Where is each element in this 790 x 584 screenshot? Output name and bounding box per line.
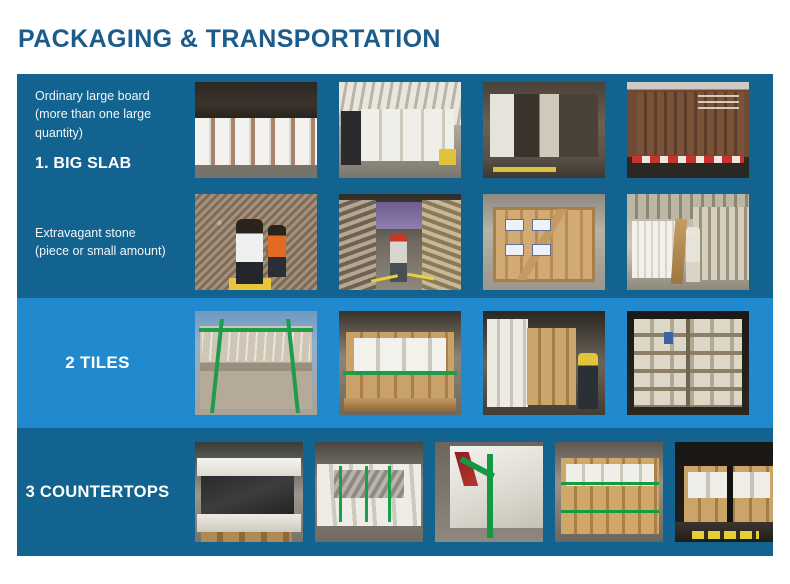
label-column-countertops: 3 COUNTERTOPS [17, 428, 178, 556]
section-countertops: 3 COUNTERTOPS [17, 428, 773, 556]
label-column-extravagant: Extravagant stone (piece or small amount… [17, 186, 178, 298]
label-column-tiles: 2 TILES [17, 298, 178, 428]
photo-container-loaded-countertop-crates[interactable] [675, 442, 773, 542]
photo-strap-closeup-green-red[interactable] [435, 442, 543, 542]
photo-white-slab-bundles-warehouse[interactable] [195, 82, 317, 178]
photo-container-interior-loading[interactable] [483, 82, 605, 178]
photo-grey-countertops-strapped[interactable] [315, 442, 423, 542]
photo-countertop-crates-pallets[interactable] [555, 442, 663, 542]
photo-tile-bundle-green-straps[interactable] [195, 311, 317, 415]
section-big-slab-row-ordinary: Ordinary large board (more than one larg… [17, 74, 773, 186]
photo-slab-aisle-worker[interactable] [339, 194, 461, 290]
photo-workers-inspecting-granite-slabs[interactable] [195, 194, 317, 290]
section-big-slab: Ordinary large board (more than one larg… [17, 74, 773, 298]
photo-slabs-loading-warehouse[interactable] [339, 82, 461, 178]
caption-extravagant-stone: Extravagant stone (piece or small amount… [35, 224, 168, 260]
photo-worker-securing-container[interactable] [627, 194, 749, 290]
photo-strip-tiles [178, 298, 773, 428]
photo-tile-crates-on-pallet[interactable] [339, 311, 461, 415]
photo-container-packed-tiles[interactable] [627, 311, 749, 415]
caption-ordinary-large-board: Ordinary large board (more than one larg… [35, 87, 168, 141]
photo-strip-big-slab-ordinary [178, 74, 773, 186]
packaging-panel: Ordinary large board (more than one larg… [17, 74, 773, 556]
heading-countertops: 3 COUNTERTOPS [26, 483, 170, 502]
photo-black-countertop-slab-wrapped[interactable] [195, 442, 303, 542]
photo-strip-big-slab-extravagant [178, 186, 773, 298]
heading-tiles: 2 TILES [65, 353, 129, 373]
label-column-ordinary: Ordinary large board (more than one larg… [17, 74, 178, 186]
heading-big-slab: 1. BIG SLAB [35, 155, 168, 173]
page-title: PACKAGING & TRANSPORTATION [18, 25, 441, 54]
section-big-slab-row-extravagant: Extravagant stone (piece or small amount… [17, 186, 773, 298]
photo-wooden-crates-labeled[interactable] [483, 194, 605, 290]
photo-closed-brown-container-truck[interactable] [627, 82, 749, 178]
photo-strip-countertops [178, 428, 773, 556]
section-tiles: 2 TILES [17, 298, 773, 428]
photo-crate-loading-forklift[interactable] [483, 311, 605, 415]
